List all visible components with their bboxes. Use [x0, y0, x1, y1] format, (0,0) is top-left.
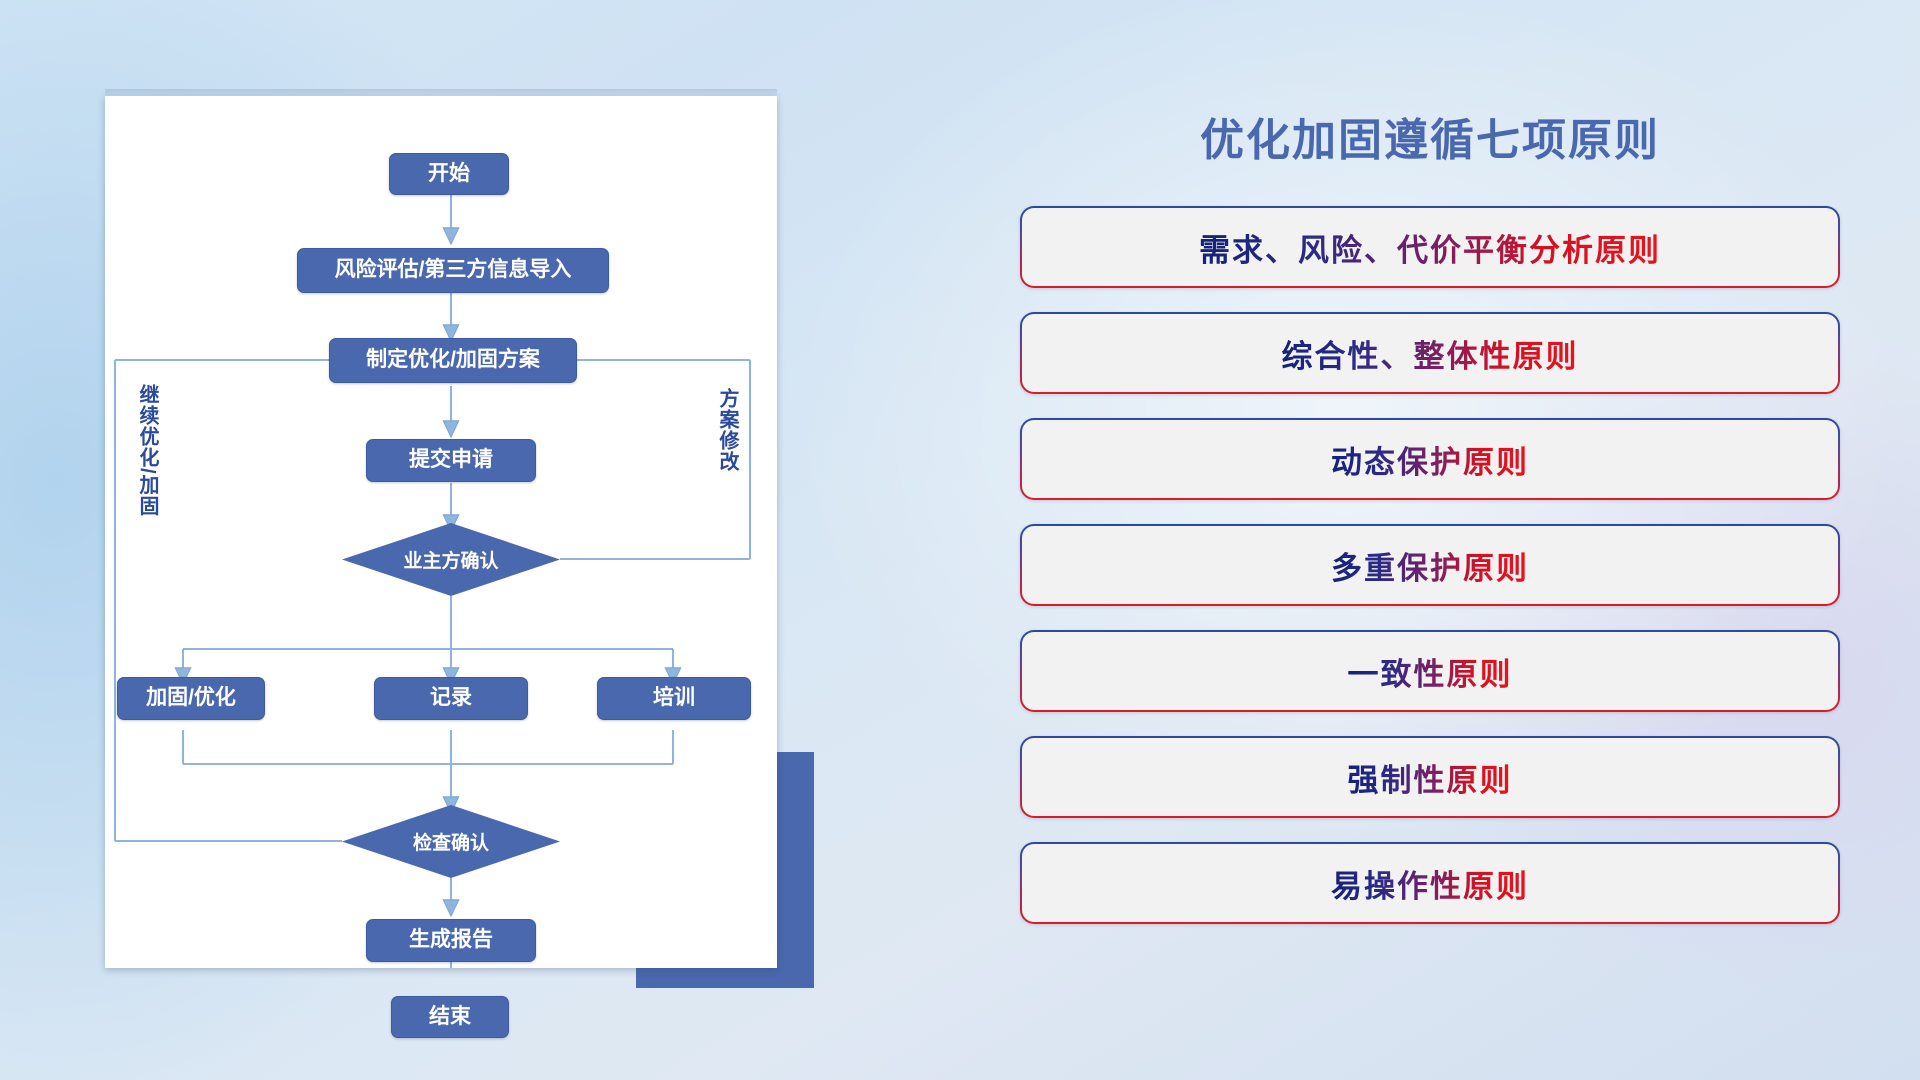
flow-node-start-label: 开始	[428, 162, 470, 186]
edge-label-plan-revision: 方案修改	[713, 388, 742, 472]
flow-node-report[interactable]: 生成报告	[366, 919, 536, 962]
principle-card-6[interactable]: 强制性原则	[1020, 736, 1840, 818]
flow-node-owner-confirm-label: 业主方确认	[403, 546, 498, 573]
flow-node-report-label: 生成报告	[409, 928, 493, 952]
flow-node-reinforce-label: 加固/优化	[146, 686, 236, 710]
principle-card-4[interactable]: 多重保护原则	[1020, 524, 1840, 606]
principle-label-5: 一致性原则	[1348, 649, 1513, 694]
principle-label-4: 多重保护原则	[1331, 543, 1529, 588]
flow-node-owner-confirm[interactable]: 业主方确认	[342, 523, 560, 596]
principle-card-1[interactable]: 需求、风险、代价平衡分析原则	[1020, 206, 1840, 288]
principle-label-1: 需求、风险、代价平衡分析原则	[1199, 225, 1661, 270]
flow-node-submit[interactable]: 提交申请	[366, 439, 536, 482]
principle-card-inner: 强制性原则	[1022, 738, 1838, 816]
principle-card-2[interactable]: 综合性、整体性原则	[1020, 312, 1840, 394]
principle-card-inner: 动态保护原则	[1022, 420, 1838, 498]
flow-node-end-label: 结束	[429, 1005, 471, 1029]
flow-node-risk-assessment[interactable]: 风险评估/第三方信息导入	[297, 248, 609, 293]
flow-node-end[interactable]: 结束	[391, 996, 509, 1038]
flow-node-risk-assessment-label: 风险评估/第三方信息导入	[335, 258, 572, 282]
principle-card-3[interactable]: 动态保护原则	[1020, 418, 1840, 500]
flow-node-record-label: 记录	[430, 686, 472, 710]
flow-node-reinforce[interactable]: 加固/优化	[117, 677, 265, 720]
principle-card-5[interactable]: 一致性原则	[1020, 630, 1840, 712]
principle-label-3: 动态保护原则	[1331, 437, 1529, 482]
flow-node-inspection-confirm-label: 检查确认	[413, 828, 489, 855]
principle-card-inner: 易操作性原则	[1022, 844, 1838, 922]
principle-card-7[interactable]: 易操作性原则	[1020, 842, 1840, 924]
principle-card-inner: 一致性原则	[1022, 632, 1838, 710]
flow-node-training[interactable]: 培训	[597, 677, 751, 720]
flow-node-plan-label: 制定优化/加固方案	[366, 348, 540, 372]
flow-node-plan[interactable]: 制定优化/加固方案	[329, 338, 577, 383]
principle-card-inner: 综合性、整体性原则	[1022, 314, 1838, 392]
principle-card-inner: 需求、风险、代价平衡分析原则	[1022, 208, 1838, 286]
flow-node-inspection-confirm[interactable]: 检查确认	[342, 805, 560, 878]
flow-node-start[interactable]: 开始	[389, 153, 509, 195]
flow-node-submit-label: 提交申请	[409, 448, 493, 472]
principle-label-7: 易操作性原则	[1331, 861, 1529, 906]
edge-label-continue-optimize: 继续优化/加固	[133, 384, 162, 517]
flow-node-record[interactable]: 记录	[374, 677, 528, 720]
principle-label-6: 强制性原则	[1348, 755, 1513, 800]
principles-title: 优化加固遵循七项原则	[1020, 104, 1840, 168]
flow-node-training-label: 培训	[653, 686, 695, 710]
principles-list: 需求、风险、代价平衡分析原则 综合性、整体性原则 动态保护原则 多重保护原则 一…	[1020, 206, 1840, 948]
flowchart-card: 开始 风险评估/第三方信息导入 制定优化/加固方案 提交申请 业主方确认 加固/…	[105, 96, 777, 968]
principle-label-2: 综合性、整体性原则	[1282, 331, 1579, 376]
principles-panel: 优化加固遵循七项原则 需求、风险、代价平衡分析原则 综合性、整体性原则 动态保护…	[1020, 96, 1840, 1006]
principle-card-inner: 多重保护原则	[1022, 526, 1838, 604]
